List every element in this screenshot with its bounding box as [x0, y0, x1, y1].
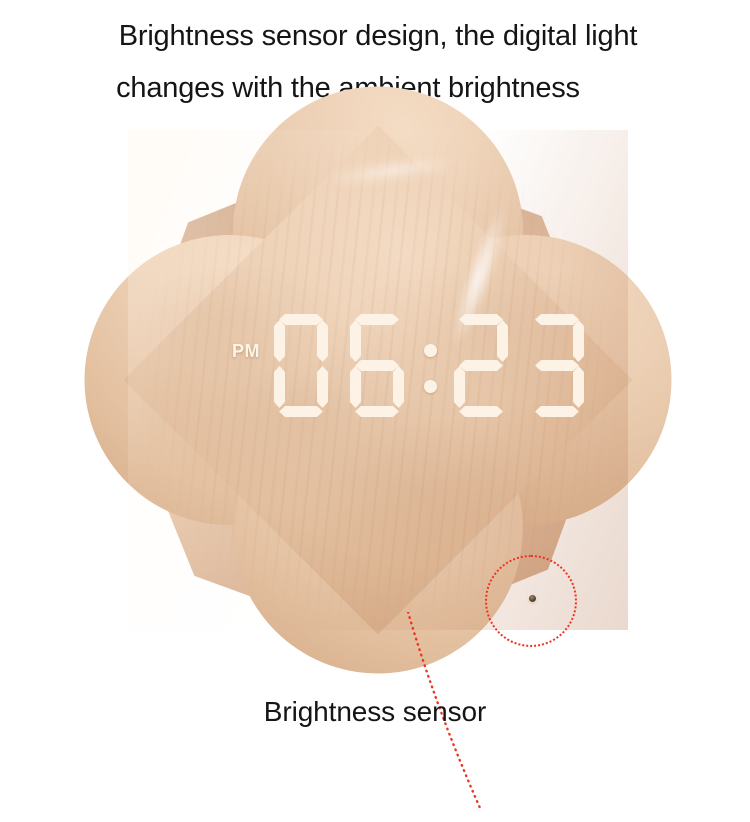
- led-time-display: PM: [232, 310, 592, 420]
- wood-grain-texture: [128, 130, 628, 630]
- digit-hour-ones: [340, 312, 414, 418]
- time-colon: [417, 312, 443, 418]
- face-shading: [128, 130, 628, 630]
- product-stage: PM: [0, 112, 750, 672]
- digit-hour-tens: [264, 312, 338, 418]
- callout-circle-icon: [485, 555, 577, 647]
- wooden-clover-clock: PM: [118, 124, 638, 644]
- sensor-caption: Brightness sensor: [0, 696, 750, 728]
- digit-minute-tens: [444, 312, 518, 418]
- clock-face-overlays: PM: [128, 130, 628, 630]
- time-digits: [264, 312, 596, 418]
- wood-grain-knots: [128, 130, 628, 630]
- ampm-indicator: PM: [232, 341, 260, 362]
- digit-minute-ones: [520, 312, 594, 418]
- specular-highlight-top: [315, 148, 467, 195]
- specular-highlight-right: [436, 183, 522, 371]
